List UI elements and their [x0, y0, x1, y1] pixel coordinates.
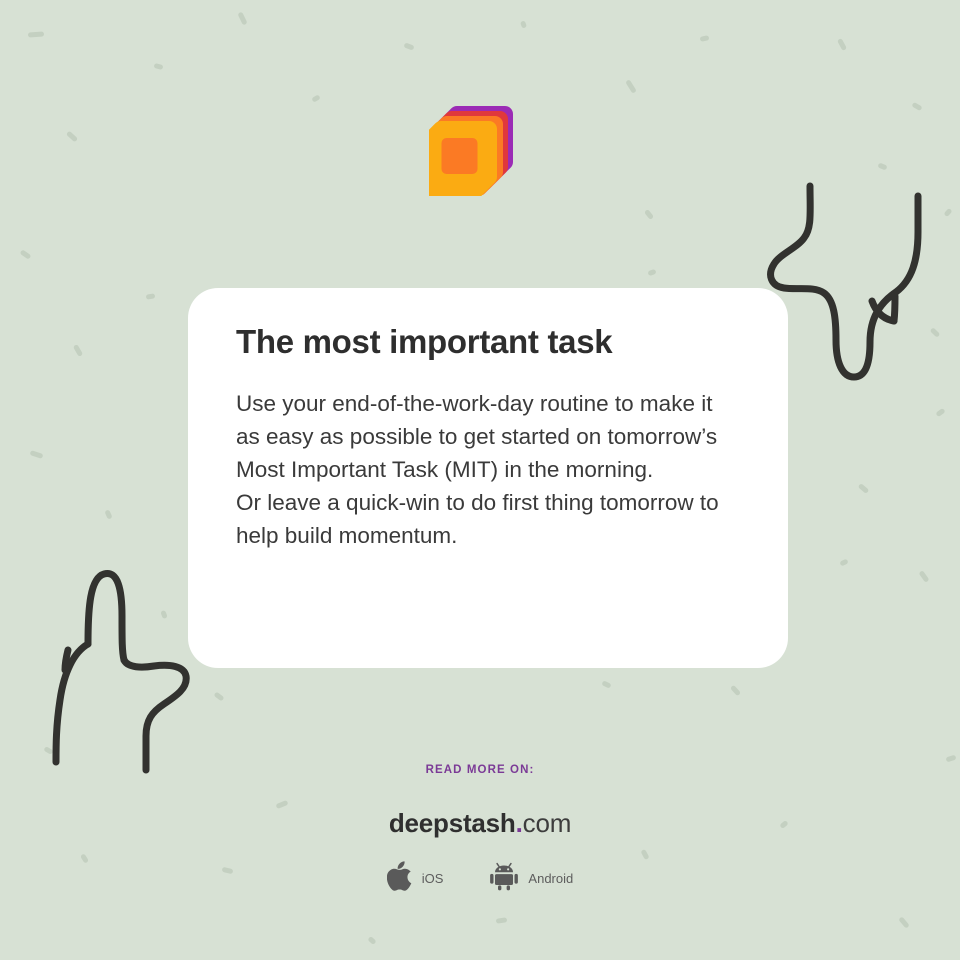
confetti-dash — [877, 162, 887, 170]
confetti-dash — [73, 344, 83, 357]
confetti-dash — [367, 936, 376, 945]
confetti-dash — [700, 35, 710, 42]
confetti-dash — [837, 38, 847, 51]
confetti-dash — [213, 692, 224, 702]
confetti-dash — [730, 685, 741, 697]
confetti-dash — [28, 31, 44, 37]
card-title: The most important task — [236, 324, 740, 361]
ios-store-badge[interactable]: iOS — [387, 861, 444, 896]
confetti-dash — [43, 746, 53, 755]
app-store-badges: iOS — [0, 861, 960, 896]
confetti-dash — [496, 917, 508, 923]
confetti-dash — [154, 63, 164, 70]
confetti-dash — [898, 916, 910, 928]
confetti-dash — [160, 610, 167, 619]
confetti-dash — [30, 450, 44, 459]
confetti-dash — [943, 208, 952, 217]
android-icon — [489, 862, 519, 896]
brand-dot: . — [516, 808, 523, 838]
confetti-dash — [858, 483, 870, 494]
card-body-text: Use your end-of-the-work-day routine to … — [236, 387, 740, 552]
confetti-dash — [644, 209, 654, 220]
read-more-label: READ MORE ON: — [0, 764, 960, 776]
confetti-dash — [520, 20, 527, 28]
apple-icon — [387, 861, 413, 896]
deepstash-logo — [429, 104, 517, 196]
brand-wordmark[interactable]: deepstash.com — [0, 808, 960, 839]
confetti-dash — [935, 408, 945, 417]
brand-tld: com — [523, 808, 572, 838]
android-store-badge[interactable]: Android — [489, 862, 573, 896]
footer: READ MORE ON: deepstash.com iOS — [0, 764, 960, 896]
confetti-dash — [311, 94, 320, 102]
confetti-dash — [647, 269, 656, 276]
confetti-dash — [20, 249, 32, 259]
android-store-label: Android — [528, 871, 573, 886]
confetti-dash — [601, 680, 611, 688]
pointing-hand-bottom-left-icon — [24, 560, 210, 782]
confetti-dash — [945, 755, 956, 763]
ios-store-label: iOS — [422, 871, 444, 886]
confetti-dash — [403, 42, 414, 50]
confetti-dash — [625, 79, 637, 94]
confetti-dash — [237, 12, 247, 26]
idea-card: The most important task Use your end-of-… — [188, 288, 788, 668]
poster-canvas: The most important task Use your end-of-… — [0, 0, 960, 960]
confetti-dash — [911, 102, 922, 111]
confetti-dash — [930, 327, 941, 338]
brand-name: deepstash — [389, 808, 516, 838]
confetti-dash — [839, 558, 848, 566]
confetti-dash — [66, 131, 78, 143]
confetti-dash — [919, 570, 930, 583]
confetti-dash — [146, 293, 156, 299]
confetti-dash — [104, 509, 112, 519]
